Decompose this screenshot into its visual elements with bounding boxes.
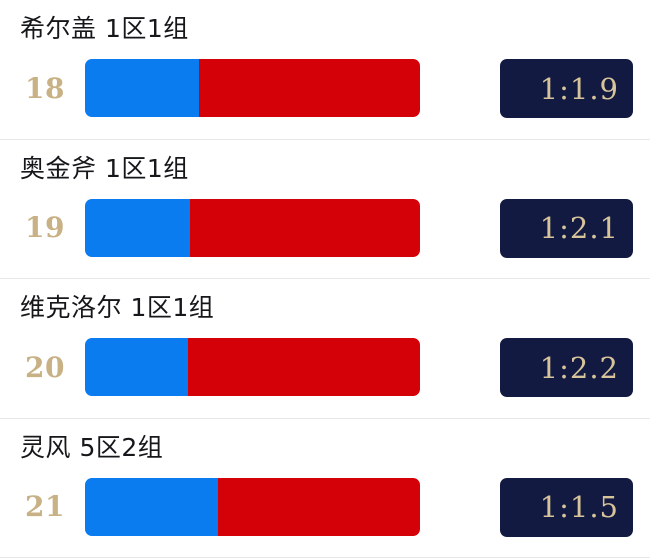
bar-segment-blue <box>85 338 188 396</box>
match-body: 19 1:2.1 <box>0 199 650 257</box>
match-title: 维克洛尔 1区1组 <box>20 291 214 325</box>
odds-bar <box>85 478 420 536</box>
odds-bar <box>85 59 420 117</box>
match-title: 奥金斧 1区1组 <box>20 152 189 186</box>
match-row[interactable]: 维克洛尔 1区1组 20 1:2.2 <box>0 279 650 419</box>
match-index: 18 <box>14 59 76 117</box>
bar-segment-blue <box>85 199 190 257</box>
bar-segment-blue <box>85 59 199 117</box>
match-row[interactable]: 灵风 5区2组 21 1:1.5 <box>0 419 650 559</box>
odds-badge[interactable]: 1:1.5 <box>500 478 633 537</box>
odds-badge[interactable]: 1:2.1 <box>500 199 633 258</box>
bar-segment-red <box>218 478 420 536</box>
bar-segment-red <box>199 59 420 117</box>
bar-segment-blue <box>85 478 218 536</box>
odds-badge[interactable]: 1:2.2 <box>500 338 633 397</box>
match-title: 希尔盖 1区1组 <box>20 12 189 46</box>
match-index: 19 <box>14 199 76 257</box>
match-index: 21 <box>14 478 76 536</box>
match-body: 18 1:1.9 <box>0 59 650 117</box>
match-odds-board: 希尔盖 1区1组 18 1:1.9 奥金斧 1区1组 19 1:2.1 维克洛尔… <box>0 0 650 559</box>
bar-segment-red <box>188 338 420 396</box>
bar-segment-red <box>190 199 420 257</box>
match-index: 20 <box>14 338 76 396</box>
match-body: 20 1:2.2 <box>0 338 650 396</box>
match-row[interactable]: 希尔盖 1区1组 18 1:1.9 <box>0 0 650 140</box>
match-body: 21 1:1.5 <box>0 478 650 536</box>
match-row[interactable]: 奥金斧 1区1组 19 1:2.1 <box>0 140 650 280</box>
odds-bar <box>85 199 420 257</box>
odds-bar <box>85 338 420 396</box>
match-title: 灵风 5区2组 <box>20 431 163 465</box>
odds-badge[interactable]: 1:1.9 <box>500 59 633 118</box>
